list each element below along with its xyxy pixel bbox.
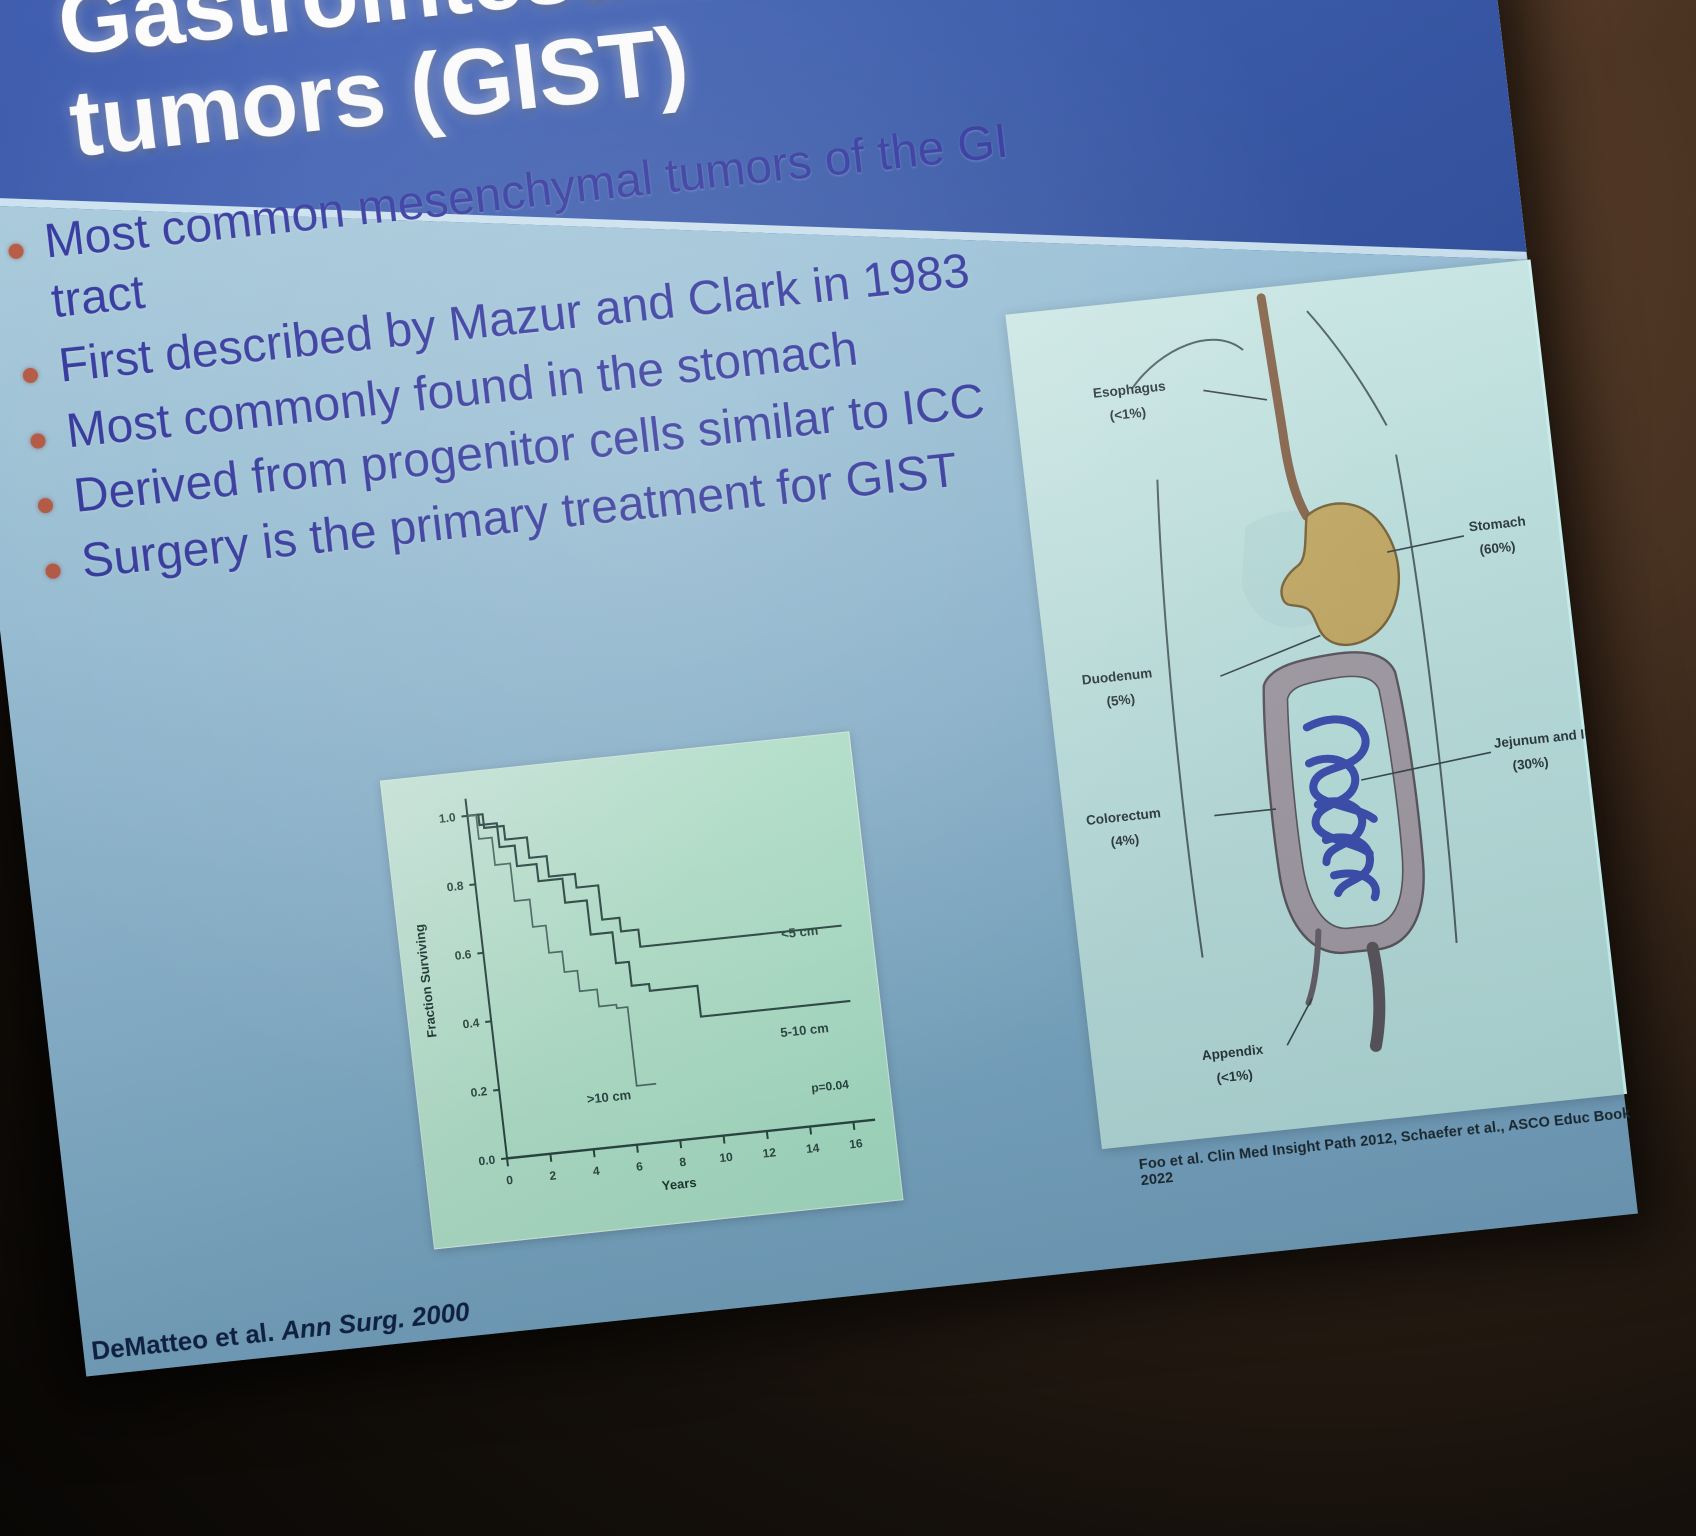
anatomy-label-colorectum-name: Colorectum xyxy=(1085,805,1161,828)
x-tick-label: 8 xyxy=(679,1155,688,1170)
anatomy-label-appendix-name: Appendix xyxy=(1201,1042,1264,1063)
bullet-dot-icon xyxy=(45,562,62,578)
bullet-dot-icon xyxy=(8,243,25,259)
anatomy-label-duodenum-pct: (5%) xyxy=(1106,691,1136,709)
citation-journal: Ann Surg. 2000 xyxy=(279,1296,471,1346)
citation-author: DeMatteo et al. xyxy=(90,1316,283,1366)
anatomy-label-stomach-name: Stomach xyxy=(1468,513,1526,534)
photo-of-projected-slide: Gastrointestinal stromal tumors (GIST) M… xyxy=(0,0,1696,1536)
x-tick-label: 6 xyxy=(635,1159,644,1174)
anatomy-label-colorectum-pct: (4%) xyxy=(1110,832,1140,850)
projection-screen: Gastrointestinal stromal tumors (GIST) M… xyxy=(0,0,1638,1377)
x-tick-label: 16 xyxy=(849,1136,864,1151)
anatomy-label-esophagus-pct: (<1%) xyxy=(1109,405,1147,424)
gi-anatomy-diagram-panel: Esophagus (<1%) Stomach (60%) Duodenum (… xyxy=(1005,259,1627,1149)
y-tick-label: 0.6 xyxy=(454,947,473,963)
kaplan-meier-chart-panel: 0.00.20.40.60.81.0 0246810121416 Fractio… xyxy=(380,731,904,1249)
slide-citation: DeMatteo et al. Ann Surg. 2000 xyxy=(90,1263,790,1367)
anatomy-label-jejunum-ileum-pct: (30%) xyxy=(1512,754,1550,773)
anatomy-label-esophagus-name: Esophagus xyxy=(1092,378,1166,401)
anatomy-label-stomach-pct: (60%) xyxy=(1479,539,1517,558)
kaplan-meier-chart: 0.00.20.40.60.81.0 0246810121416 Fractio… xyxy=(381,732,902,1248)
y-tick-label: 0.4 xyxy=(462,1016,481,1032)
series-label-5to10cm: 5-10 cm xyxy=(780,1020,830,1040)
anatomy-label-jejunum-ileum-name: Jejunum and Ileum xyxy=(1493,723,1616,751)
x-tick-label: 2 xyxy=(549,1168,558,1183)
km-curve-1 xyxy=(467,778,850,1038)
x-tick-label: 14 xyxy=(805,1141,820,1156)
x-tick-label: 4 xyxy=(592,1164,601,1179)
bullet-dot-icon xyxy=(22,367,39,383)
projection-screen-wrapper: Gastrointestinal stromal tumors (GIST) M… xyxy=(0,0,1642,1416)
pvalue-annotation: p=0.04 xyxy=(811,1077,850,1095)
y-axis-label: Fraction Surviving xyxy=(412,923,440,1038)
x-axis-label: Years xyxy=(661,1175,697,1194)
gi-anatomy-diagram: Esophagus (<1%) Stomach (60%) Duodenum (… xyxy=(1005,259,1627,1149)
y-tick-label: 0.2 xyxy=(470,1084,489,1100)
series-label-lt5cm: <5 cm xyxy=(780,923,819,942)
series-label-gt10cm: >10 cm xyxy=(586,1087,632,1107)
y-tick-label: 1.0 xyxy=(438,810,457,826)
y-tick-label: 0.0 xyxy=(478,1153,497,1169)
anatomy-label-duodenum-name: Duodenum xyxy=(1081,665,1153,687)
y-tick-label: 0.8 xyxy=(446,879,465,895)
x-tick-label: 0 xyxy=(505,1173,514,1188)
bullet-dot-icon xyxy=(37,497,54,513)
x-tick-label: 12 xyxy=(762,1145,777,1160)
anatomy-label-appendix-pct: (<1%) xyxy=(1216,1067,1254,1086)
x-tick-label: 10 xyxy=(719,1150,734,1165)
bullet-dot-icon xyxy=(30,432,47,448)
